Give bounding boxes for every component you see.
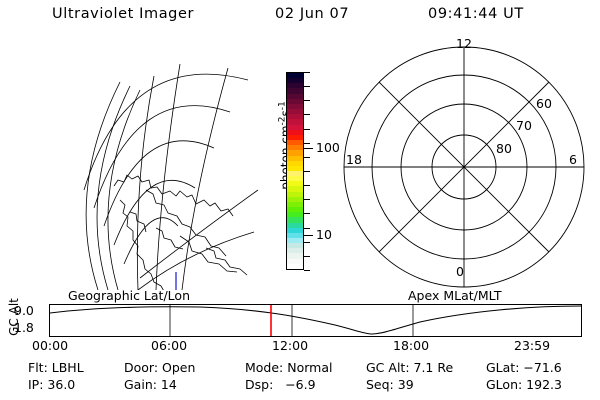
mlat-label-70: 70 [516,120,532,133]
colorbar-minor-tick [304,199,310,200]
colorbar-tick-100-mark [304,148,313,149]
orbit-x-tick-1800: 18:00 [393,340,429,353]
orbit-x-tick-1200: 12:00 [272,340,308,353]
graticule-limb [86,82,120,290]
apex-panel-title: Apex MLat/MLT [408,288,502,303]
apex-polar-panel: 12 6 0 18 60 70 80 [330,38,598,296]
graticule-parallel [84,74,248,190]
colorbar-minor-tick [304,171,310,172]
colorbar-tick-10-mark [304,235,313,236]
colorbar-minor-tick [304,213,310,214]
mlt-label-left: 18 [346,154,362,167]
status-gain: Gain: 14 [124,379,177,392]
graticule-parallel [94,106,230,208]
colorbar-gradient [286,72,304,270]
colorbar-minor-tick [304,86,310,87]
altitude-trace [50,306,581,334]
status-mode: Mode: Normal [245,362,332,375]
status-gc-alt: GC Alt: 7.1 Re [366,362,453,375]
status-door: Door: Open [124,362,195,375]
graticule-parallel [124,218,178,264]
mlt-label-right: 6 [569,154,577,167]
coastline-segment [114,175,233,216]
status-footer: Flt: LBHL Door: Open Mode: Normal GC Alt… [0,362,600,398]
colorbar-minor-tick [304,242,310,243]
orbit-x-tick-0600: 06:00 [151,340,187,353]
colorbar-minor-tick [304,185,310,186]
mlat-label-80: 80 [496,143,512,156]
geographic-panel-title: Geographic Lat/Lon [68,288,190,303]
status-glon: GLon: 192.3 [486,379,562,392]
colorbar-minor-tick [304,270,310,271]
orbit-altitude-plot [49,304,582,337]
geographic-projection-panel [58,40,273,290]
status-dsp: Dsp: −6.9 [245,379,316,392]
orbit-altitude-section: Geographic Lat/Lon Apex MLat/MLT GC Alt … [0,288,600,356]
instrument-title: Ultraviolet Imager [52,6,194,22]
graticule-parallel [104,141,214,226]
colorbar-minor-tick [304,157,310,158]
graticule-meridian [182,68,228,290]
graticule-meridian [138,232,254,290]
colorbar-minor-tick [304,114,310,115]
status-seq: Seq: 39 [366,379,414,392]
graticule-limb [97,86,130,290]
orbit-y-tick-low: 1.8 [14,320,34,335]
observation-date: 02 Jun 07 [275,6,349,22]
status-ip: IP: 36.0 [28,379,75,392]
coastline-segment [156,228,183,249]
status-glat: GLat: −71.6 [486,362,562,375]
colorbar-minor-tick [304,143,310,144]
mlt-label-top: 12 [456,38,472,51]
orbit-altitude-curve-svg [50,305,581,336]
status-flight: Flt: LBHL [28,362,84,375]
graticule-limb [108,90,140,290]
mlat-label-60: 60 [536,98,552,111]
header-bar: Ultraviolet Imager 02 Jun 07 09:41:44 UT [0,6,600,32]
orbit-x-tick-2359: 23:59 [514,340,550,353]
colorbar-minor-tick [304,228,310,229]
orbit-x-tick-0000: 00:00 [32,340,68,353]
observation-time: 09:41:44 UT [428,6,524,22]
orbit-y-tick-high: 9.0 [14,303,34,318]
status-row-2: IP: 36.0 Gain: 14 Dsp: −6.9 Seq: 39 GLon… [0,379,600,396]
mlt-label-bottom: 0 [456,266,464,279]
colorbar-minor-tick [304,129,310,130]
colorbar-minor-tick [304,100,310,101]
graticule-parallel [114,180,195,245]
graticule-meridian [137,76,154,290]
apex-polar-svg [330,38,598,296]
geographic-projection-svg [58,40,273,290]
colorbar-minor-tick [304,256,310,257]
colorbar-band [287,264,303,269]
colorbar-minor-tick [304,72,310,73]
coastline-segment [180,236,237,272]
